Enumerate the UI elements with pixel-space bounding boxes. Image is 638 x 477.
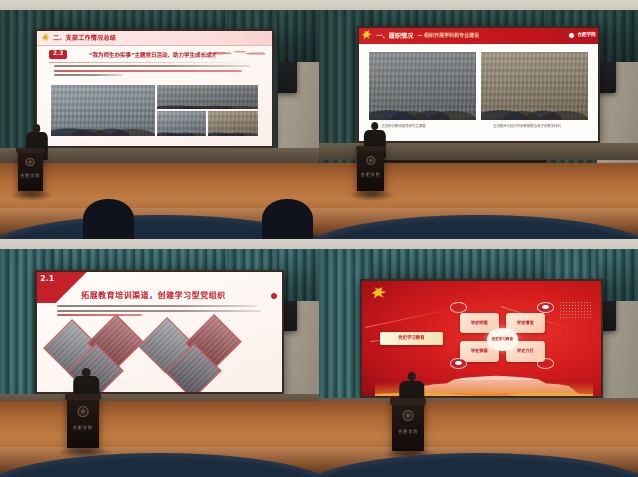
podium-label: 合肥学院 [392, 429, 424, 435]
speaker-head [407, 372, 416, 381]
screen-frame [357, 26, 599, 143]
podium-top [356, 146, 386, 151]
podium-label: 合肥学院 [18, 173, 44, 179]
university-seal-icon [26, 158, 35, 167]
podium: 合肥学院 [392, 398, 424, 450]
speaker-head [371, 122, 379, 131]
podium: 合肥学院 [18, 148, 44, 191]
podium-label: 合肥学院 [357, 172, 384, 178]
panel-top-right: 一、履职情况 — 组织开展学科和专业建设 合肥学院 交流研讨教师指导研究生课题 … [319, 0, 638, 239]
audience-head [83, 199, 134, 239]
speaker-head [82, 368, 91, 377]
panel-bottom-left: 2.1 拓展教育培训渠道，创建学习型党组织 [0, 239, 319, 477]
audience-row [0, 213, 319, 239]
audience-head [262, 199, 313, 239]
speaker-head [33, 124, 41, 133]
panel-bottom-right: 党史学习教育 学史明理 学史增信 学史崇德 学史力行 党史学 习教育 [319, 239, 638, 477]
panel-top-left: 二、支部工作情况总结 2.3 “我为师生办实事”主题党日活动、助力学生成长成才 [0, 0, 319, 239]
led-screen: 一、履职情况 — 组织开展学科和专业建设 合肥学院 交流研讨教师指导研究生课题 … [357, 26, 599, 143]
led-screen: 党史学习教育 学史明理 学史增信 学史崇德 学史力行 党史学 习教育 [360, 279, 602, 398]
podium-top [390, 398, 426, 404]
podium: 合肥学院 [67, 394, 99, 449]
photo-collage: 二、支部工作情况总结 2.3 “我为师生办实事”主题党日活动、助力学生成长成才 [0, 0, 638, 477]
screen-frame [35, 29, 274, 149]
podium-top [16, 148, 45, 153]
podium: 合肥学院 [357, 146, 384, 191]
podium-shadow [10, 189, 55, 201]
led-screen: 二、支部工作情况总结 2.3 “我为师生办实事”主题党日活动、助力学生成长成才 [35, 29, 274, 149]
podium-top [65, 394, 101, 401]
screen-frame [360, 279, 602, 398]
university-seal-icon [403, 410, 414, 421]
podium-label: 合肥学院 [67, 425, 99, 431]
university-seal-icon [78, 406, 89, 417]
university-seal-icon [366, 156, 375, 165]
podium-shadow [348, 189, 396, 201]
